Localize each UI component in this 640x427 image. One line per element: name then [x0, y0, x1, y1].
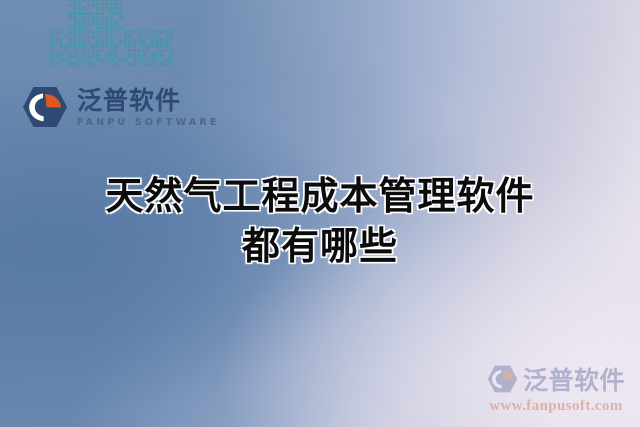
watermark-hexagon-swoosh-icon: [487, 365, 518, 393]
mosaic-cell: [68, 30, 72, 34]
mosaic-cell: [110, 16, 114, 20]
mosaic-cell: [96, 21, 100, 25]
mosaic-cell: [170, 30, 174, 34]
headline-line-2: 都有哪些: [0, 222, 640, 272]
mosaic-cell: [78, 0, 82, 2]
mosaic-cell: [137, 49, 141, 53]
mosaic-cell: [114, 21, 118, 25]
mosaic-cell: [110, 7, 114, 11]
mosaic-cell: [110, 53, 114, 57]
mosaic-cell: [105, 35, 109, 39]
mosaic-cell: [64, 44, 68, 48]
mosaic-cell: [82, 21, 86, 25]
mosaic-cell: [124, 49, 128, 53]
mosaic-cell: [165, 49, 169, 53]
mosaic-cell: [87, 53, 91, 57]
mosaic-cell: [119, 16, 123, 20]
mosaic-cell: [78, 30, 82, 34]
mosaic-cell: [114, 7, 118, 11]
mosaic-cell: [78, 3, 82, 7]
mosaic-cell: [124, 30, 128, 34]
mosaic-cell: [101, 44, 105, 48]
mosaic-cell: [101, 30, 105, 34]
mosaic-cell: [114, 62, 118, 66]
mosaic-cell: [68, 16, 72, 20]
mosaic-cell: [82, 53, 86, 57]
mosaic-cell: [105, 7, 109, 11]
mosaic-cell: [96, 26, 100, 30]
mosaic-cell: [119, 7, 123, 11]
mosaic-cell: [119, 39, 123, 43]
mosaic-cell: [73, 44, 77, 48]
mosaic-cell: [147, 62, 151, 66]
mosaic-cell: [82, 58, 86, 62]
mosaic-cell: [110, 35, 114, 39]
mosaic-cell: [105, 30, 109, 34]
mosaic-cell: [96, 12, 100, 16]
mosaic-cell: [170, 49, 174, 53]
mosaic-cell: [119, 26, 123, 30]
mosaic-cell: [73, 39, 77, 43]
mosaic-cell: [124, 58, 128, 62]
mosaic-cell: [101, 0, 105, 2]
mosaic-cell: [105, 58, 109, 62]
mosaic-cell: [137, 35, 141, 39]
mosaic-cell: [165, 39, 169, 43]
mosaic-cell: [87, 0, 91, 2]
mosaic-cell: [160, 30, 164, 34]
mosaic-cell: [101, 3, 105, 7]
mosaic-cell: [59, 53, 63, 57]
mosaic-cell: [91, 44, 95, 48]
mosaic-cell: [50, 39, 54, 43]
headline-line-1: 天然气工程成本管理软件: [105, 174, 534, 218]
mosaic-cell: [55, 30, 59, 34]
mosaic-cell: [96, 3, 100, 7]
mosaic-cell: [170, 53, 174, 57]
mosaic-cell: [165, 44, 169, 48]
mosaic-cell: [137, 39, 141, 43]
mosaic-cell: [87, 62, 91, 66]
mosaic-cell: [96, 53, 100, 57]
watermark-url: www.fanpusoft.com: [478, 398, 634, 415]
mosaic-cell: [73, 16, 77, 20]
header-logo: 泛普软件 FANPU SOFTWARE: [22, 86, 220, 128]
mosaic-cell: [82, 16, 86, 20]
mosaic-cell: [156, 58, 160, 62]
mosaic-cell: [151, 53, 155, 57]
mosaic-cell: [101, 58, 105, 62]
mosaic-cell: [68, 26, 72, 30]
mosaic-cell: [96, 58, 100, 62]
mosaic-cell: [142, 39, 146, 43]
mosaic-cell: [128, 49, 132, 53]
mosaic-cell: [78, 35, 82, 39]
mosaic-cell: [119, 0, 123, 2]
mosaic-cell: [91, 35, 95, 39]
mosaic-cell: [96, 30, 100, 34]
mosaic-cell: [137, 53, 141, 57]
mosaic-cell: [156, 30, 160, 34]
pixel-mosaic-decoration: [50, 0, 174, 66]
mosaic-cell: [96, 16, 100, 20]
mosaic-cell: [87, 58, 91, 62]
mosaic-cell: [68, 0, 72, 2]
mosaic-cell: [114, 49, 118, 53]
mosaic-cell: [142, 58, 146, 62]
mosaic-cell: [101, 7, 105, 11]
mosaic-cell: [59, 44, 63, 48]
mosaic-cell: [105, 3, 109, 7]
mosaic-cell: [156, 35, 160, 39]
mosaic-cell: [55, 53, 59, 57]
mosaic-cell: [78, 44, 82, 48]
mosaic-cell: [110, 49, 114, 53]
mosaic-cell: [160, 49, 164, 53]
mosaic-cell: [147, 49, 151, 53]
mosaic-cell: [73, 0, 77, 2]
mosaic-cell: [110, 58, 114, 62]
mosaic-cell: [50, 30, 54, 34]
mosaic-cell: [142, 49, 146, 53]
mosaic-cell: [110, 21, 114, 25]
mosaic-cell: [156, 49, 160, 53]
mosaic-cell: [87, 26, 91, 30]
mosaic-cell: [96, 39, 100, 43]
mosaic-cell: [78, 49, 82, 53]
mosaic-cell: [73, 7, 77, 11]
mosaic-cell: [101, 21, 105, 25]
mosaic-cell: [78, 21, 82, 25]
mosaic-cell: [128, 44, 132, 48]
mosaic-cell: [128, 30, 132, 34]
mosaic-cell: [68, 62, 72, 66]
mosaic-cell: [137, 58, 141, 62]
mosaic-cell: [50, 58, 54, 62]
poster-canvas: 泛普软件 FANPU SOFTWARE 天然气工程成本管理软件 都有哪些 泛普软…: [0, 0, 640, 427]
mosaic-cell: [78, 12, 82, 16]
mosaic-cell: [73, 3, 77, 7]
watermark: 泛普软件 www.fanpusoft.com: [478, 361, 634, 415]
mosaic-cell: [151, 30, 155, 34]
mosaic-cell: [101, 35, 105, 39]
mosaic-cell: [78, 62, 82, 66]
mosaic-cell: [91, 53, 95, 57]
mosaic-cell: [59, 39, 63, 43]
mosaic-cell: [119, 12, 123, 16]
mosaic-cell: [91, 0, 95, 2]
mosaic-cell: [55, 62, 59, 66]
mosaic-cell: [128, 53, 132, 57]
mosaic-cell: [133, 39, 137, 43]
mosaic-cell: [73, 26, 77, 30]
mosaic-cell: [50, 35, 54, 39]
mosaic-cell: [165, 35, 169, 39]
mosaic-cell: [87, 39, 91, 43]
mosaic-cell: [87, 12, 91, 16]
mosaic-cell: [110, 12, 114, 16]
mosaic-cell: [105, 26, 109, 30]
mosaic-cell: [105, 39, 109, 43]
mosaic-cell: [142, 44, 146, 48]
mosaic-cell: [87, 30, 91, 34]
mosaic-cell: [96, 0, 100, 2]
mosaic-cell: [119, 3, 123, 7]
mosaic-cell: [128, 35, 132, 39]
mosaic-cell: [91, 12, 95, 16]
mosaic-cell: [170, 39, 174, 43]
mosaic-cell: [160, 62, 164, 66]
mosaic-cell: [151, 44, 155, 48]
mosaic-cell: [151, 62, 155, 66]
mosaic-cell: [105, 0, 109, 2]
mosaic-cell: [64, 49, 68, 53]
mosaic-cell: [55, 49, 59, 53]
watermark-chinese: 泛普软件: [523, 361, 625, 397]
mosaic-cell: [96, 44, 100, 48]
mosaic-cell: [110, 26, 114, 30]
mosaic-cell: [147, 35, 151, 39]
header-logo-wordmark: 泛普软件 FANPU SOFTWARE: [77, 87, 220, 128]
mosaic-cell: [137, 30, 141, 34]
mosaic-cell: [101, 62, 105, 66]
mosaic-cell: [64, 58, 68, 62]
mosaic-cell: [160, 53, 164, 57]
mosaic-cell: [87, 21, 91, 25]
mosaic-cell: [133, 58, 137, 62]
mosaic-cell: [124, 44, 128, 48]
mosaic-cell: [147, 30, 151, 34]
mosaic-cell: [73, 62, 77, 66]
mosaic-cell: [114, 0, 118, 2]
mosaic-cell: [91, 49, 95, 53]
mosaic-cell: [82, 12, 86, 16]
mosaic-cell: [105, 21, 109, 25]
mosaic-cell: [91, 3, 95, 7]
mosaic-cell: [170, 58, 174, 62]
mosaic-cell: [114, 53, 118, 57]
header-logo-english: FANPU SOFTWARE: [77, 118, 220, 128]
mosaic-cell: [110, 3, 114, 7]
mosaic-cell: [78, 7, 82, 11]
mosaic-cell: [73, 53, 77, 57]
mosaic-cell: [147, 44, 151, 48]
mosaic-cell: [73, 21, 77, 25]
mosaic-cell: [128, 39, 132, 43]
mosaic-cell: [96, 7, 100, 11]
mosaic-cell: [165, 62, 169, 66]
mosaic-cell: [105, 44, 109, 48]
mosaic-cell: [105, 16, 109, 20]
mosaic-cell: [110, 62, 114, 66]
mosaic-cell: [170, 35, 174, 39]
mosaic-cell: [68, 44, 72, 48]
mosaic-cell: [160, 44, 164, 48]
mosaic-cell: [68, 53, 72, 57]
mosaic-cell: [91, 30, 95, 34]
mosaic-cell: [96, 49, 100, 53]
mosaic-cell: [82, 44, 86, 48]
mosaic-cell: [87, 49, 91, 53]
mosaic-cell: [82, 0, 86, 2]
mosaic-cell: [105, 53, 109, 57]
mosaic-cell: [68, 35, 72, 39]
mosaic-cell: [96, 35, 100, 39]
mosaic-cell: [87, 3, 91, 7]
mosaic-cell: [156, 53, 160, 57]
mosaic-cell: [73, 12, 77, 16]
mosaic-cell: [142, 53, 146, 57]
mosaic-cell: [78, 58, 82, 62]
mosaic-cell: [114, 12, 118, 16]
mosaic-cell: [91, 62, 95, 66]
mosaic-cell: [110, 39, 114, 43]
mosaic-cell: [68, 39, 72, 43]
mosaic-cell: [64, 35, 68, 39]
mosaic-cell: [73, 35, 77, 39]
mosaic-cell: [101, 12, 105, 16]
mosaic-cell: [82, 26, 86, 30]
mosaic-cell: [128, 62, 132, 66]
mosaic-cell: [110, 0, 114, 2]
mosaic-cell: [59, 58, 63, 62]
mosaic-cell: [151, 58, 155, 62]
mosaic-cell: [124, 35, 128, 39]
headline: 天然气工程成本管理软件 都有哪些: [0, 172, 640, 272]
mosaic-cell: [160, 39, 164, 43]
mosaic-cell: [59, 30, 63, 34]
mosaic-cell: [73, 49, 77, 53]
mosaic-cell: [87, 16, 91, 20]
mosaic-cell: [68, 58, 72, 62]
mosaic-cell: [151, 35, 155, 39]
mosaic-cell: [91, 16, 95, 20]
mosaic-cell: [101, 26, 105, 30]
mosaic-cell: [50, 49, 54, 53]
mosaic-cell: [133, 62, 137, 66]
mosaic-cell: [110, 30, 114, 34]
mosaic-cell: [133, 30, 137, 34]
mosaic-cell: [114, 35, 118, 39]
mosaic-cell: [101, 16, 105, 20]
mosaic-cell: [133, 49, 137, 53]
mosaic-cell: [50, 44, 54, 48]
mosaic-cell: [101, 49, 105, 53]
header-logo-chinese: 泛普软件: [77, 88, 220, 113]
mosaic-cell: [82, 49, 86, 53]
mosaic-cell: [82, 30, 86, 34]
mosaic-cell: [165, 30, 169, 34]
mosaic-cell: [114, 3, 118, 7]
mosaic-cell: [87, 7, 91, 11]
mosaic-cell: [78, 26, 82, 30]
mosaic-cell: [114, 26, 118, 30]
mosaic-cell: [78, 39, 82, 43]
mosaic-cell: [110, 44, 114, 48]
mosaic-cell: [91, 21, 95, 25]
mosaic-cell: [147, 58, 151, 62]
mosaic-cell: [165, 58, 169, 62]
mosaic-cell: [119, 58, 123, 62]
mosaic-cell: [82, 7, 86, 11]
mosaic-cell: [156, 44, 160, 48]
mosaic-cell: [142, 35, 146, 39]
mosaic-cell: [50, 53, 54, 57]
mosaic-cell: [114, 44, 118, 48]
mosaic-cell: [68, 12, 72, 16]
mosaic-cell: [142, 62, 146, 66]
mosaic-cell: [55, 39, 59, 43]
mosaic-cell: [124, 39, 128, 43]
mosaic-cell: [55, 35, 59, 39]
mosaic-cell: [101, 39, 105, 43]
mosaic-cell: [68, 3, 72, 7]
watermark-logo-row: 泛普软件: [478, 361, 634, 397]
mosaic-cell: [87, 35, 91, 39]
mosaic-cell: [133, 44, 137, 48]
mosaic-cell: [151, 39, 155, 43]
mosaic-cell: [73, 30, 77, 34]
mosaic-cell: [50, 62, 54, 66]
mosaic-cell: [133, 53, 137, 57]
mosaic-cell: [156, 39, 160, 43]
mosaic-cell: [82, 39, 86, 43]
hexagon-swoosh-icon: [22, 86, 68, 128]
